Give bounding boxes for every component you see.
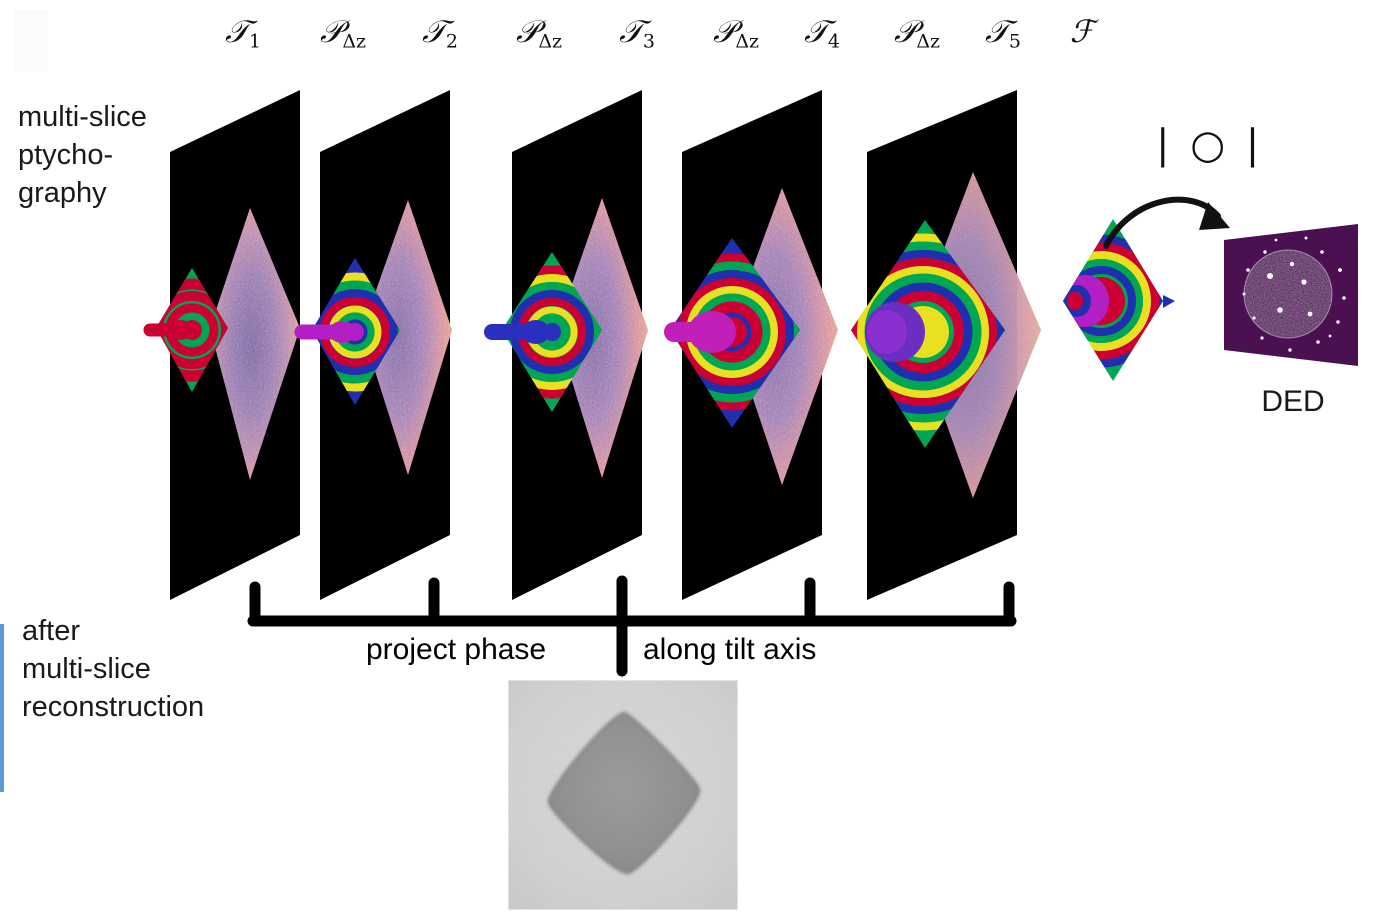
operator-subscript: Δz (735, 30, 759, 52)
operator-label-propagation-4: 𝒫Δz (877, 14, 957, 52)
operator-subscript: Δz (538, 30, 562, 52)
reconstructed-phase-image (508, 680, 738, 910)
operator-subscript: 4 (828, 30, 840, 52)
operator-symbol: 𝒫 (713, 14, 735, 50)
brace-label-project-phase: project phase (366, 633, 546, 667)
operator-subscript: 2 (446, 30, 458, 52)
operator-subscript: 5 (1009, 30, 1021, 52)
operator-label-transmission-4: 𝒯4 (787, 14, 857, 52)
operator-label-transmission-5: 𝒯5 (968, 14, 1038, 52)
operator-subscript: 3 (643, 30, 655, 52)
tilt-axis-brace (245, 575, 1020, 685)
label-after-multi-slice-reconstruction: after multi-slice reconstruction (22, 612, 272, 726)
operator-symbol: 𝒯 (422, 14, 446, 50)
operator-label-propagation-3: 𝒫Δz (696, 14, 776, 52)
operator-subscript: Δz (342, 30, 366, 52)
ded-caption: DED (1218, 385, 1368, 419)
left-accent-rule (0, 624, 4, 792)
operator-label-fourier-transform: ℱ (1057, 14, 1107, 50)
operator-subscript: Δz (916, 30, 940, 52)
operator-symbol: 𝒯 (225, 14, 249, 50)
operator-label-transmission-1: 𝒯1 (208, 14, 278, 52)
ded-detector-panel (1218, 218, 1368, 388)
slice-panel-2 (300, 80, 515, 550)
operator-label-propagation-1: 𝒫Δz (303, 14, 383, 52)
figure-canvas: 𝒯1 𝒫Δz 𝒯2 𝒫Δz 𝒯3 𝒫Δz 𝒯4 𝒫Δz 𝒯5 ℱ multi-s… (0, 0, 1381, 915)
operator-symbol: 𝒫 (320, 14, 342, 50)
operator-label-transmission-3: 𝒯3 (602, 14, 672, 52)
modulus-operator-label: | ○ | (1156, 122, 1263, 168)
operator-symbol: 𝒯 (619, 14, 643, 50)
corner-decoration (14, 10, 48, 72)
operator-symbol: 𝒫 (516, 14, 538, 50)
operator-symbol: 𝒯 (985, 14, 1009, 50)
brace-label-along-tilt-axis: along tilt axis (643, 633, 816, 667)
operator-symbol: 𝒫 (894, 14, 916, 50)
operator-label-transmission-2: 𝒯2 (405, 14, 475, 52)
operator-label-propagation-2: 𝒫Δz (499, 14, 579, 52)
operator-subscript: 1 (249, 30, 261, 52)
operator-symbol: 𝒯 (804, 14, 828, 50)
operator-symbol: ℱ (1070, 14, 1094, 50)
